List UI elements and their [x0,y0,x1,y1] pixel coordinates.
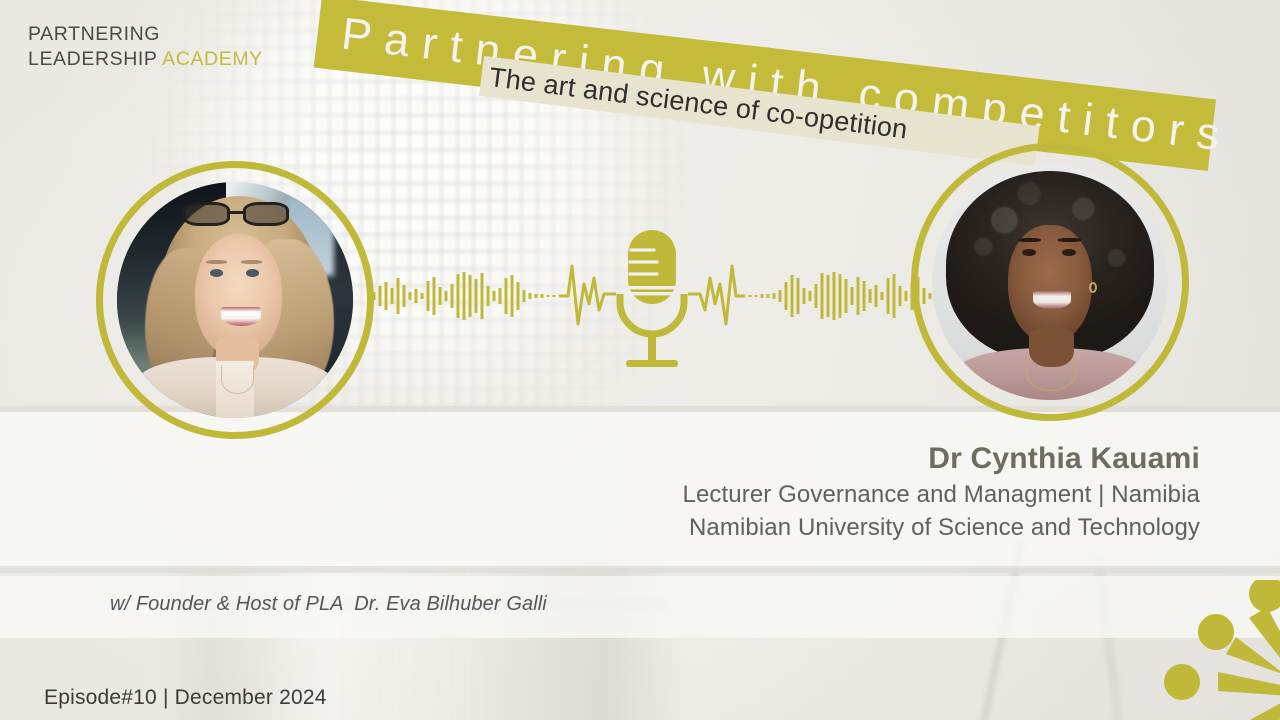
host-smile [221,307,261,326]
guest-organization: Namibian University of Science and Techn… [440,511,1200,544]
host-eyebrow-left [206,260,227,264]
starburst-logo-mark [1150,580,1280,720]
host-credit-line: w/ Founder & Host of PLA Dr. Eva Bilhube… [110,593,547,616]
speaker-band-bottom-edge [0,566,1280,573]
audio-waveform-left [372,248,616,344]
avatar-host [117,182,353,418]
podcast-title-card: PARTNERING LEADERSHIP ACADEMY Partnering… [0,0,1280,720]
guest-eyebrow-left [1018,238,1040,242]
host-eye-right [246,269,259,277]
brand-logo-academy: ACADEMY [162,48,263,70]
guest-necklace [1026,355,1076,390]
avatar-guest [932,164,1168,400]
guest-eye-right [1062,249,1076,256]
sunglasses-icon [183,202,289,226]
guest-eyebrow-right [1058,238,1080,242]
guest-face [1008,225,1093,343]
guest-eye-left [1022,249,1036,256]
audio-waveform-right [688,248,932,344]
brand-logo: PARTNERING LEADERSHIP ACADEMY [28,22,263,72]
guest-info-block: Dr Cynthia Kauami Lecturer Governance an… [440,440,1200,544]
host-eye-left [210,269,223,277]
guest-name: Dr Cynthia Kauami [440,440,1200,478]
brand-logo-line-1: PARTNERING [28,22,263,47]
episode-number-date: Episode#10 | December 2024 [44,686,327,710]
guest-role: Lecturer Governance and Managment | Nami… [440,478,1200,511]
brand-logo-leadership: LEADERSHIP [28,48,157,70]
brand-logo-line-2: LEADERSHIP ACADEMY [28,47,263,72]
host-eyebrow-right [241,260,262,264]
